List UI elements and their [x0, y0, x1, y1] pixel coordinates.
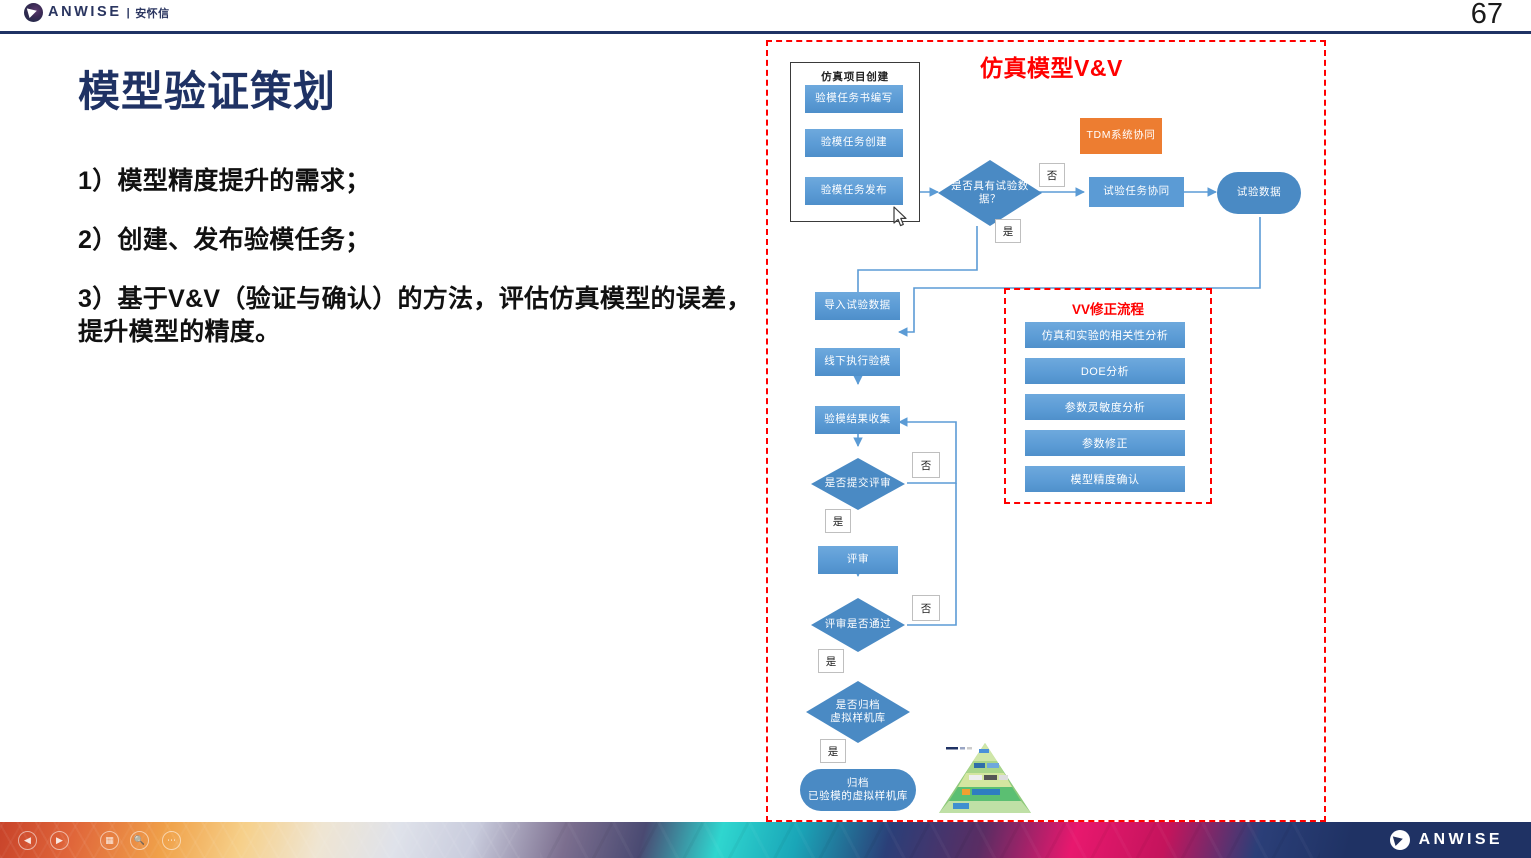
anwise-logo-icon: [24, 3, 43, 22]
bullet-item-3: 3）基于V&V（验证与确认）的方法，评估仿真模型的误差，提升模型的精度。: [78, 283, 758, 349]
node-decision-archive-line1: 是否归档: [816, 699, 899, 712]
vv-panel-title: VV修正流程: [1006, 298, 1210, 318]
header-divider: [0, 31, 1531, 34]
node-archive-result[interactable]: 归档 已验模的虚拟样机库: [800, 769, 916, 811]
grid-icon: ▦: [105, 836, 114, 845]
node-offline-verify[interactable]: 线下执行验模: [815, 348, 900, 376]
slide-header: ANWISE | 安怀信 67: [0, 0, 1531, 32]
node-archive-line2: 已验模的虚拟样机库: [808, 790, 908, 803]
prev-icon: ◀: [24, 836, 31, 845]
node-decision-submit-review[interactable]: 是否提交评审: [811, 458, 905, 510]
node-tdm-collab[interactable]: TDM系统协同: [1080, 118, 1162, 154]
next-icon: ▶: [56, 836, 63, 845]
node-decision-review-pass[interactable]: 评审是否通过: [811, 598, 905, 652]
page-number: 67: [1471, 0, 1503, 31]
bullet-item-2: 2）创建、发布验模任务；: [78, 224, 758, 257]
node-verify-task-doc[interactable]: 验模任务书编写: [805, 85, 903, 113]
next-slide-button[interactable]: ▶: [50, 831, 69, 850]
header-logo-divider: |: [127, 7, 131, 19]
bullet-list: 1）模型精度提升的需求； 2）创建、发布验模任务； 3）基于V&V（验证与确认）…: [78, 165, 758, 375]
node-archive-line1: 归档: [847, 777, 869, 790]
group-box-caption: 仿真项目创建: [791, 69, 919, 84]
label-yes-has-test-data: 是: [995, 219, 1021, 243]
presentation-bottom-bar: ◀ ▶ ▦ 🔍 ⋯ ANWISE: [0, 822, 1531, 858]
label-no-submit-review: 否: [912, 452, 940, 478]
label-yes-archive: 是: [820, 739, 846, 763]
header-logo-chinese: 安怀信: [135, 5, 170, 21]
node-decision-review-pass-label: 评审是否通过: [820, 618, 895, 631]
label-no-has-test-data: 否: [1039, 163, 1065, 187]
bottom-bar-logo: ANWISE: [1390, 830, 1503, 850]
node-decision-has-test-data-label: 是否具有试验数据？: [948, 180, 1031, 206]
vv-correction-panel: VV修正流程 仿真和实验的相关性分析 DOE分析 参数灵敏度分析 参数修正 模型…: [1004, 288, 1212, 504]
label-no-review-pass: 否: [912, 595, 940, 621]
page-title: 模型验证策划: [78, 58, 336, 119]
more-options-button[interactable]: ⋯: [162, 831, 181, 850]
header-logo-text: ANWISE: [48, 3, 122, 22]
header-logo: ANWISE | 安怀信: [24, 3, 170, 22]
slide-canvas: ANWISE | 安怀信 67 模型验证策划 1）模型精度提升的需求； 2）创建…: [0, 0, 1531, 858]
node-verify-task-publish[interactable]: 验模任务发布: [805, 177, 903, 205]
bottom-bar-logo-text: ANWISE: [1419, 831, 1503, 849]
node-test-task-collab[interactable]: 试验任务协同: [1089, 177, 1184, 207]
bottom-bar-pattern: [0, 822, 520, 858]
node-test-data[interactable]: 试验数据: [1217, 172, 1301, 214]
grid-view-button[interactable]: ▦: [100, 831, 119, 850]
node-collect-results[interactable]: 验模结果收集: [815, 406, 900, 434]
mouse-cursor-icon: [893, 206, 909, 228]
node-decision-archive-line2: 虚拟样机库: [816, 712, 899, 725]
vv-item-correlation[interactable]: 仿真和实验的相关性分析: [1025, 322, 1185, 348]
node-verify-task-create[interactable]: 验模任务创建: [805, 129, 903, 157]
vv-item-sensitivity[interactable]: 参数灵敏度分析: [1025, 394, 1185, 420]
zoom-button[interactable]: 🔍: [130, 831, 149, 850]
node-decision-submit-review-label: 是否提交评审: [820, 477, 895, 490]
node-import-test-data[interactable]: 导入试验数据: [815, 292, 900, 320]
bottom-bar-pattern-right: [540, 822, 1320, 858]
prev-slide-button[interactable]: ◀: [18, 831, 37, 850]
more-icon: ⋯: [167, 836, 176, 845]
label-yes-submit-review: 是: [825, 509, 851, 533]
node-decision-has-test-data[interactable]: 是否具有试验数据？: [938, 160, 1042, 226]
search-icon: 🔍: [134, 836, 145, 845]
node-review[interactable]: 评审: [818, 546, 898, 574]
vv-item-accuracy-confirm[interactable]: 模型精度确认: [1025, 466, 1185, 492]
anwise-logo-icon-bottom: [1390, 830, 1410, 850]
label-yes-review-pass: 是: [818, 649, 844, 673]
vv-item-param-correction[interactable]: 参数修正: [1025, 430, 1185, 456]
bullet-item-1: 1）模型精度提升的需求；: [78, 165, 758, 198]
vv-item-doe[interactable]: DOE分析: [1025, 358, 1185, 384]
node-decision-archive[interactable]: 是否归档 虚拟样机库: [806, 681, 910, 743]
pyramid-decoration-icon: [938, 741, 1032, 815]
